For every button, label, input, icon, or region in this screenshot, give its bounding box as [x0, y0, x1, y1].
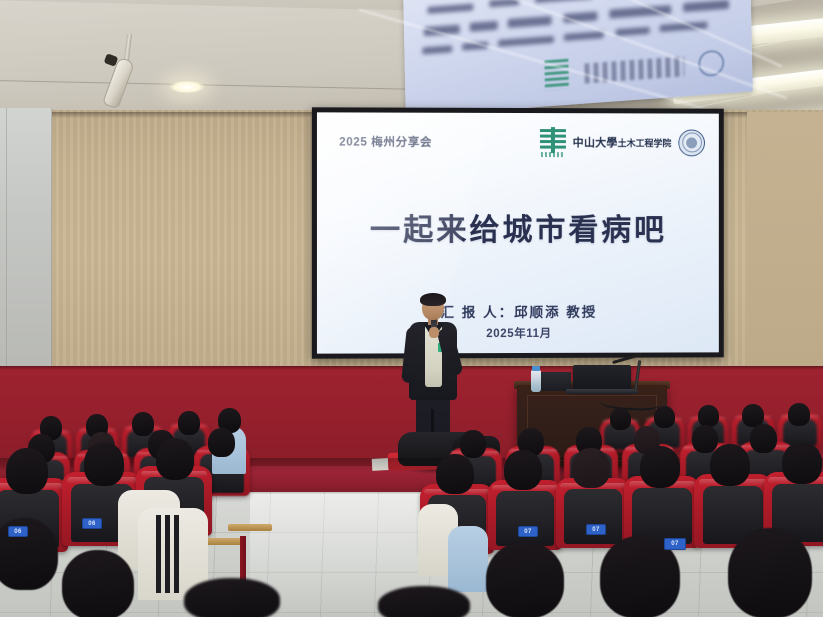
audience-head [728, 528, 812, 617]
laptop-icon [573, 365, 631, 391]
tablet-armrest [228, 524, 272, 531]
seat-number-badge: 07 [664, 538, 686, 550]
slide-header: 2025 梅州分享会 中山大學土木工程学院 [317, 112, 719, 171]
audience-head [640, 446, 680, 488]
audience-head [460, 430, 486, 458]
sysu-university-seal-icon [678, 129, 705, 156]
seat-number-badge: 06 [8, 526, 28, 537]
audience-head [782, 442, 822, 484]
audience-body [448, 526, 488, 592]
brand-secondary-text: 土木工程学院 [618, 138, 672, 148]
audience-head [610, 408, 631, 430]
presenter-hand [429, 327, 439, 338]
audience-head [378, 586, 470, 617]
audience-head [178, 411, 200, 435]
audience-head [184, 578, 280, 617]
audience-head [208, 428, 235, 457]
brand-name-text: 中山大學土木工程学院 [573, 134, 672, 150]
water-bottle-icon [531, 370, 541, 392]
bottle-cap [532, 366, 540, 371]
presenter-hair [420, 293, 446, 306]
audience-head [62, 550, 134, 617]
seat-number-badge: 07 [518, 526, 538, 537]
audience-head [692, 425, 718, 453]
audience-seating: 06 06 07 07 07 [0, 400, 823, 617]
right-wall-panel [747, 112, 823, 370]
recessed-downlight-icon [168, 80, 206, 94]
audience-head [156, 438, 194, 480]
audience-head [486, 542, 564, 617]
audience-head [654, 406, 675, 428]
slide-date: 2025年11月 [317, 325, 719, 342]
seat[interactable] [488, 480, 562, 550]
seat-number-badge: 06 [82, 518, 102, 529]
brand-primary-text: 中山大學 [573, 137, 618, 149]
slide-title: 一起来给城市看病吧 [317, 205, 719, 249]
projection-screen-frame: 2025 梅州分享会 中山大學土木工程学院 一起来给城市看病吧 汇 报 人：邱顺… [312, 107, 724, 358]
audience-head [750, 424, 777, 453]
audience-head [132, 412, 154, 436]
lecture-hall-photo: 2025 梅州分享会 中山大學土木工程学院 一起来给城市看病吧 汇 报 人：邱顺… [0, 0, 823, 617]
audience-head [436, 454, 474, 494]
seat-number-badge: 07 [586, 524, 606, 535]
sysu-civil-engineering-logo-icon [540, 127, 566, 157]
audience-head [698, 405, 719, 427]
audience-head [84, 442, 124, 486]
audience-head [6, 448, 48, 494]
presentation-slide: 2025 梅州分享会 中山大學土木工程学院 一起来给城市看病吧 汇 报 人：邱顺… [317, 112, 719, 353]
audience-head [710, 444, 750, 486]
audience-head [504, 450, 542, 490]
slide-presenter: 汇 报 人：邱顺添 教授 [317, 301, 719, 322]
seat[interactable] [556, 478, 630, 548]
brand-lockup: 中山大學土木工程学院 [540, 127, 705, 157]
slide-eyebrow-text: 2025 梅州分享会 [339, 134, 432, 150]
audience-head [788, 403, 810, 426]
audience-head [572, 448, 610, 488]
left-wall-panel [0, 108, 52, 372]
